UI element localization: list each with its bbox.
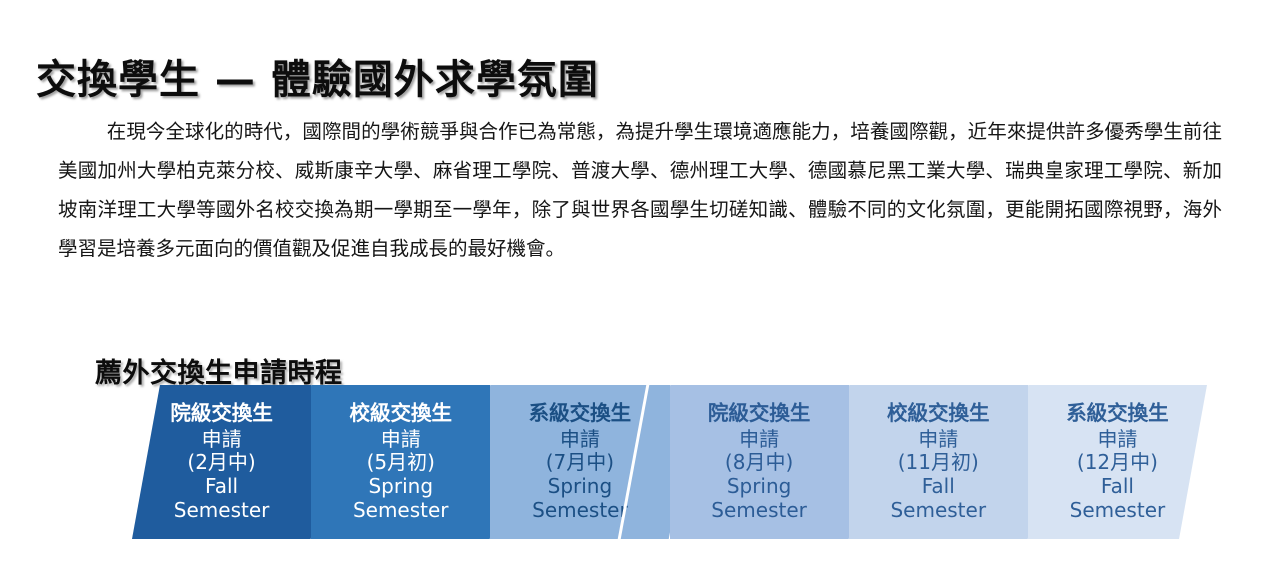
segment-level: 院級交換生 <box>708 401 811 425</box>
timeline-segment[interactable]: 校級交換生申請(11月初)FallSemester <box>849 385 1028 539</box>
application-timeline: 院級交換生申請(2月中)FallSemester校級交換生申請(5月初)Spri… <box>132 385 1207 539</box>
segment-level: 校級交換生 <box>887 401 990 425</box>
segment-month: (11月初) <box>887 451 990 475</box>
segment-action: 申請 <box>529 428 632 452</box>
timeline-segment-text: 院級交換生申請(8月中)SpringSemester <box>708 401 811 523</box>
segment-action: 申請 <box>1066 428 1169 452</box>
timeline-segment[interactable]: 院級交換生申請(8月中)SpringSemester <box>670 385 849 539</box>
segment-term-suffix: Semester <box>708 499 811 523</box>
timeline-segment-text: 系級交換生申請(7月中)SpringSemester <box>529 401 632 523</box>
timeline-segment-text: 院級交換生申請(2月中)FallSemester <box>170 401 273 523</box>
segment-term: Spring <box>529 475 632 499</box>
timeline-segment[interactable]: 校級交換生申請(5月初)SpringSemester <box>311 385 490 539</box>
segment-term: Spring <box>708 475 811 499</box>
segment-term: Fall <box>170 475 273 499</box>
segment-term: Fall <box>1066 475 1169 499</box>
intro-paragraph: 在現今全球化的時代，國際間的學術競爭與合作已為常態，為提升學生環境適應能力，培養… <box>58 112 1222 268</box>
segment-term-suffix: Semester <box>350 499 453 523</box>
segment-term-suffix: Semester <box>529 499 632 523</box>
segment-term-suffix: Semester <box>1066 499 1169 523</box>
segment-action: 申請 <box>887 428 990 452</box>
segment-month: (8月中) <box>708 451 811 475</box>
segment-level: 院級交換生 <box>170 401 273 425</box>
segment-level: 系級交換生 <box>529 401 632 425</box>
segment-term-suffix: Semester <box>887 499 990 523</box>
segment-level: 系級交換生 <box>1066 401 1169 425</box>
timeline-segment-text: 校級交換生申請(5月初)SpringSemester <box>350 401 453 523</box>
segment-term: Fall <box>887 475 990 499</box>
segment-action: 申請 <box>170 428 273 452</box>
page-title: 交換學生 — 體驗國外求學氛圍 <box>36 47 599 105</box>
segment-month: (12月中) <box>1066 451 1169 475</box>
segment-month: (7月中) <box>529 451 632 475</box>
segment-level: 校級交換生 <box>350 401 453 425</box>
segment-month: (5月初) <box>350 451 453 475</box>
timeline-segment-text: 系級交換生申請(12月中)FallSemester <box>1066 401 1169 523</box>
segment-action: 申請 <box>350 428 453 452</box>
segment-month: (2月中) <box>170 451 273 475</box>
segment-action: 申請 <box>708 428 811 452</box>
timeline-segment[interactable]: 院級交換生申請(2月中)FallSemester <box>132 385 311 539</box>
segment-term-suffix: Semester <box>170 499 273 523</box>
timeline-segment-text: 校級交換生申請(11月初)FallSemester <box>887 401 990 523</box>
timeline-segment[interactable]: 系級交換生申請(12月中)FallSemester <box>1028 385 1207 539</box>
timeline-track: 院級交換生申請(2月中)FallSemester校級交換生申請(5月初)Spri… <box>132 385 1207 539</box>
segment-term: Spring <box>350 475 453 499</box>
